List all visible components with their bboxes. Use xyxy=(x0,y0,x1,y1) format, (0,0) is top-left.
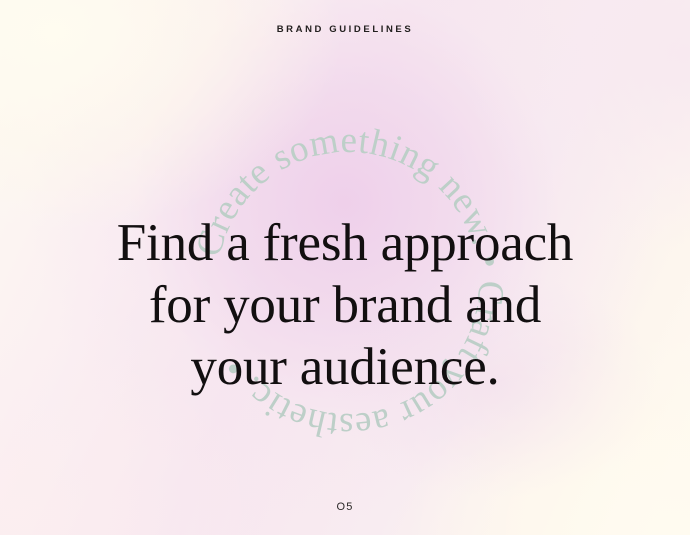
page-number: O5 xyxy=(0,502,690,513)
headline-line-3: your audience. xyxy=(0,336,690,398)
slide-canvas: BRAND GUIDELINES Create something new. •… xyxy=(0,0,690,535)
page-title: Find a fresh approach for your brand and… xyxy=(0,212,690,398)
headline-line-2: for your brand and xyxy=(0,274,690,336)
headline-line-1: Find a fresh approach xyxy=(0,212,690,274)
slide-eyebrow-label: BRAND GUIDELINES xyxy=(0,25,690,35)
